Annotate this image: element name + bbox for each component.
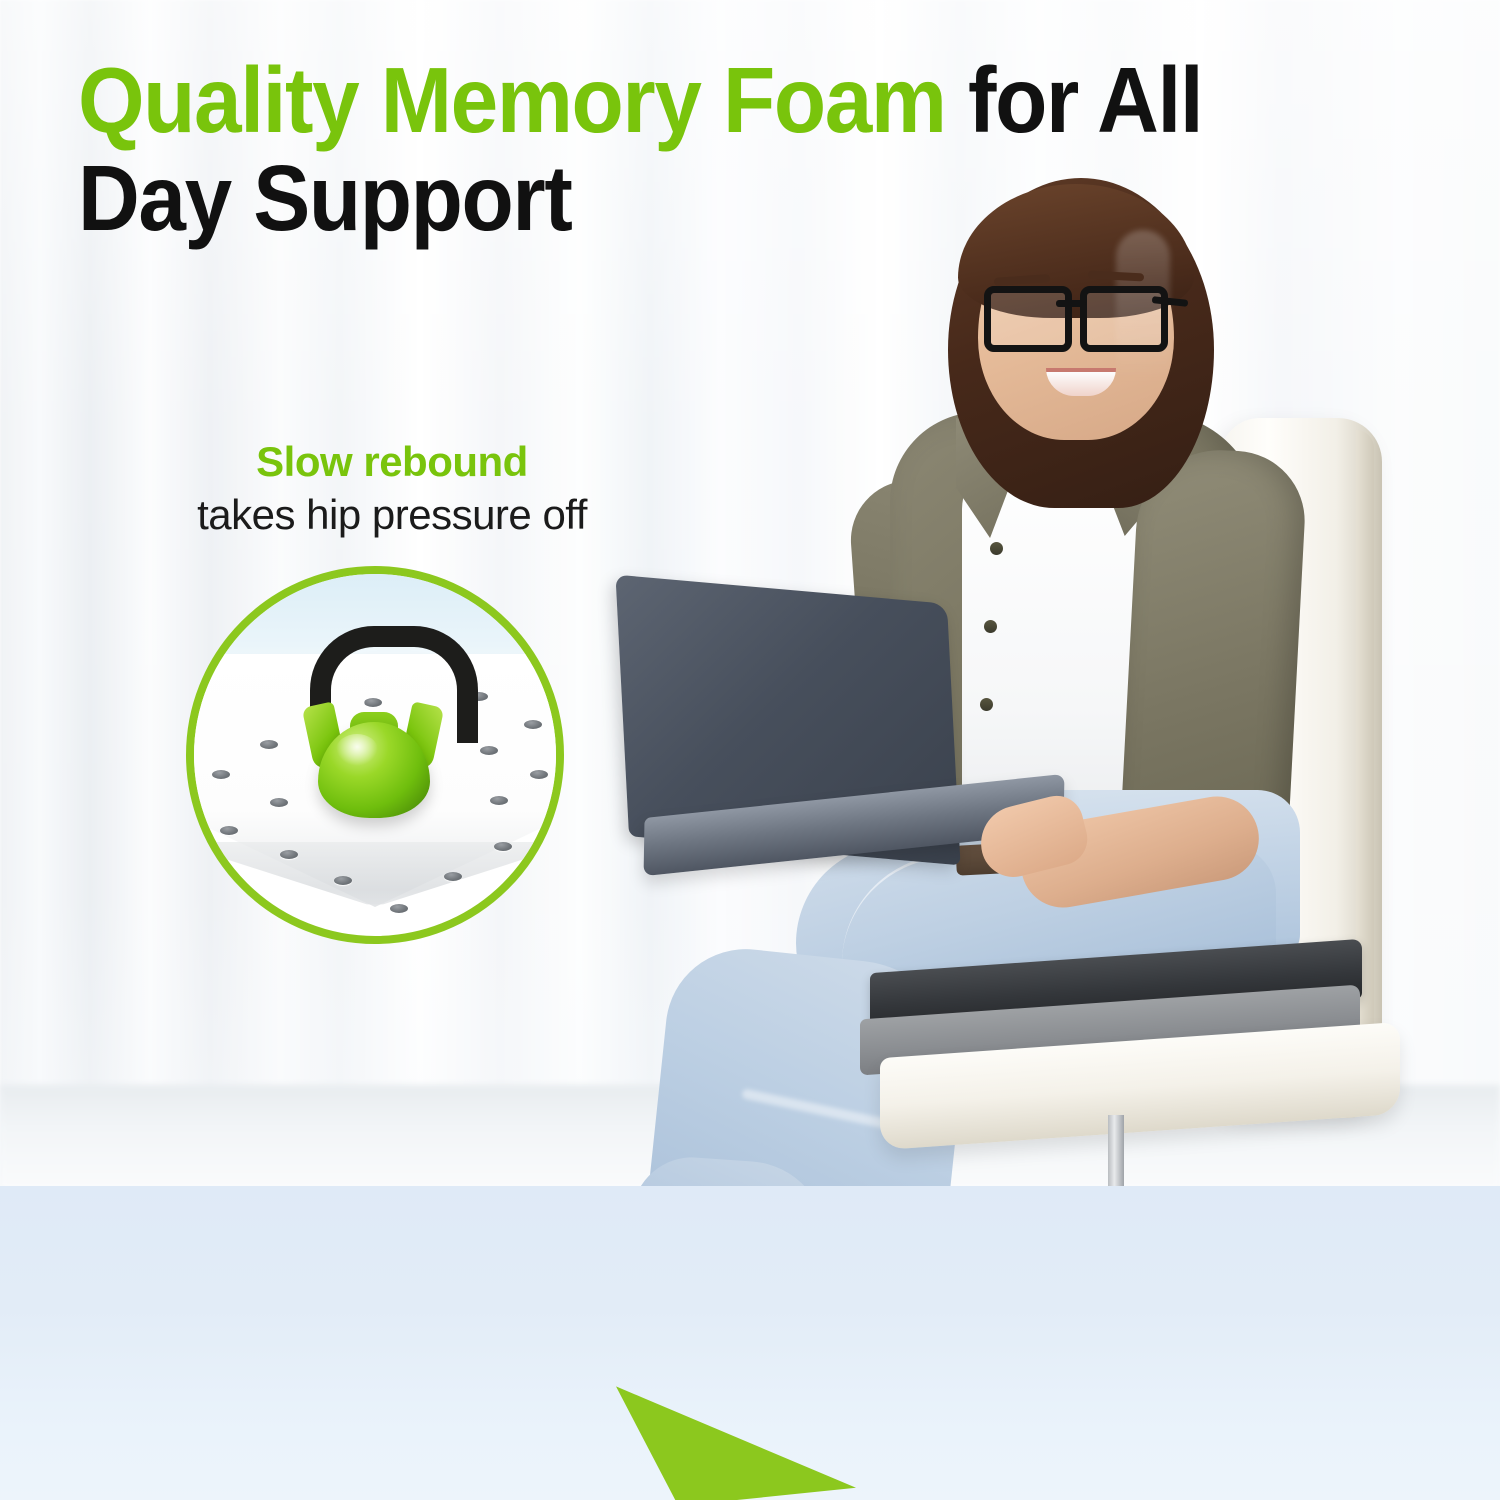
- kettlebell-highlight: [336, 734, 378, 766]
- kettlebell-callout: [186, 566, 564, 944]
- foam-hole-icon: [480, 746, 498, 755]
- callout-circle: [186, 566, 564, 944]
- memory-foam-edge: [186, 842, 564, 929]
- glasses-lens-left: [984, 286, 1072, 352]
- foam-hole-icon: [212, 770, 230, 779]
- jacket-button: [980, 698, 993, 711]
- kettlebell-icon: [298, 626, 448, 816]
- foam-hole-icon: [530, 770, 548, 779]
- hero-photo-scene: [560, 150, 1500, 1190]
- product-infographic: Quality Memory Foam for All Day Support …: [0, 0, 1500, 1500]
- foam-hole-icon: [444, 872, 462, 881]
- foam-hole-icon: [220, 826, 238, 835]
- foam-hole-icon: [280, 850, 298, 859]
- foam-hole-icon: [494, 842, 512, 851]
- eyeglasses-icon: [984, 286, 1166, 340]
- foam-hole-icon: [524, 720, 542, 729]
- kettlebell-handle-sheen: [357, 659, 407, 711]
- jacket-button: [990, 542, 1003, 555]
- foam-hole-icon: [270, 798, 288, 807]
- glasses-bridge: [1056, 300, 1086, 307]
- foam-hole-icon: [260, 740, 278, 749]
- foam-hole-icon: [334, 876, 352, 885]
- jacket-button: [984, 620, 997, 633]
- headline-green-text: Quality Memory Foam: [78, 48, 946, 152]
- foam-hole-icon: [390, 904, 408, 913]
- foam-hole-icon: [490, 796, 508, 805]
